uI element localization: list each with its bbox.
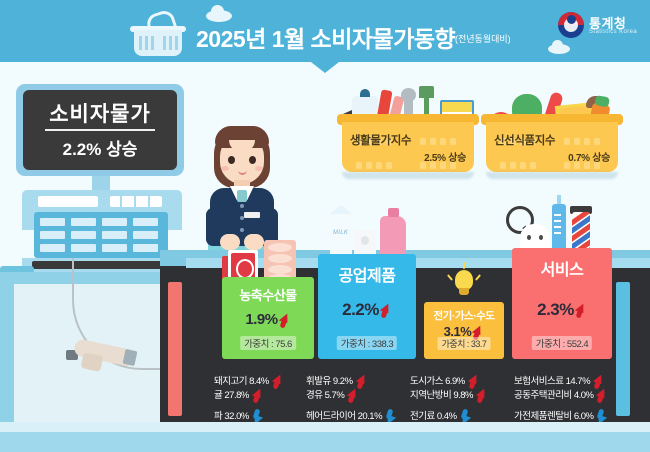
bar-agriculture-label: 농축수산물: [222, 285, 314, 304]
living-cost-index-label: 생활물가지수: [350, 132, 411, 148]
cloud-icon-2: [548, 44, 570, 54]
up-arrow-icon: [278, 313, 291, 328]
living-cost-index-basket: 생활물가지수 2.5% 상승: [342, 88, 474, 180]
list-item: 도시가스 6.9%: [410, 374, 488, 388]
bar-services-value: 2.3%: [512, 300, 612, 320]
up-arrow-icon: [379, 303, 392, 318]
bar-industrial[interactable]: 공업제품 2.2% 가중치 : 338.3: [318, 254, 416, 359]
barcode-scanner-icon: [66, 344, 138, 370]
up-arrow-icon: [574, 303, 587, 318]
receipt-slot: [38, 196, 98, 207]
list-item: 지역난방비 9.8%: [410, 388, 488, 402]
bar-services-weight: 가중치 : 552.4: [532, 336, 592, 350]
up-arrow-icon: [475, 388, 488, 403]
fresh-food-index-basket: 신선식품지수 0.7% 상승: [486, 88, 618, 180]
bar-utilities-label: 전기·가스·수도: [424, 308, 504, 323]
infographic-canvas: 2025년 1월 소비자물가동향 (전년동월대비) 통계청 Statistics…: [0, 0, 650, 452]
up-arrow-icon: [251, 388, 264, 403]
card-slot: [110, 196, 162, 207]
page-title: 2025년 1월 소비자물가동향: [196, 20, 455, 54]
bar-industrial-weight: 가중치 : 338.3: [337, 336, 397, 350]
bar-services[interactable]: 서비스 2.3% 가중치 : 552.4: [512, 248, 612, 359]
register-keypad[interactable]: [34, 212, 168, 258]
milk-carton-label: MILK: [333, 230, 348, 236]
name-badge: [244, 212, 260, 218]
list-item: 헤어드라이어 20.1%: [306, 409, 397, 423]
decor-bar-left: [168, 282, 182, 416]
bar-utilities[interactable]: 전기·가스·수도 3.1% 가중치 : 33.7: [424, 302, 504, 359]
headline-board: 소비자물가 2.2% 상승: [23, 90, 177, 170]
divider: [45, 129, 155, 131]
bar-agriculture-value: 1.9%: [222, 311, 314, 328]
shopping-basket-icon: [130, 14, 186, 56]
headline-label: 소비자물가: [23, 98, 177, 128]
decor-bar-right: [616, 282, 630, 416]
up-arrow-icon: [346, 388, 359, 403]
living-cost-index-value: 2.5% 상승: [424, 149, 466, 164]
lightbulb-icon: [452, 268, 476, 298]
bar-agriculture-weight: 가중치 : 75.6: [240, 336, 296, 350]
list-item: 공동주택관리비 4.0%: [514, 388, 608, 402]
bar-agriculture[interactable]: 농축수산물 1.9% 가중치 : 75.6: [222, 277, 314, 359]
logo-subname: Statistics Korea: [589, 29, 637, 35]
floor-strip: [0, 432, 650, 452]
list-item: 가전제품렌탈비 6.0%: [514, 409, 608, 423]
detail-list-utilities: 도시가스 6.9% 지역난방비 9.8% 전기료 0.4%: [410, 374, 488, 423]
list-item: 돼지고기 8.4%: [214, 374, 284, 388]
bar-industrial-label: 공업제품: [318, 262, 416, 286]
list-item: 전기료 0.4%: [410, 409, 488, 423]
up-arrow-icon: [271, 374, 284, 389]
list-item: 파 32.0%: [214, 409, 284, 423]
headline-value: 2.2% 상승: [23, 135, 177, 160]
up-arrow-icon: [595, 388, 608, 403]
bar-industrial-value: 2.2%: [318, 300, 416, 320]
list-item: 휘발유 9.2%: [306, 374, 397, 388]
bar-utilities-weight: 가중치 : 33.7: [438, 337, 491, 350]
bar-services-label: 서비스: [512, 256, 612, 280]
fresh-food-index-label: 신선식품지수: [494, 132, 555, 148]
up-arrow-icon: [355, 374, 368, 389]
header-notch: [311, 62, 339, 73]
page-subtitle: (전년동월대비): [455, 32, 511, 45]
list-item: 보험서비스료 14.7%: [514, 374, 608, 388]
fresh-food-index-value: 0.7% 상승: [568, 149, 610, 164]
taegeuk-icon: [558, 12, 584, 38]
page-header: 2025년 1월 소비자물가동향 (전년동월대비) 통계청 Statistics…: [0, 0, 650, 62]
statistics-korea-logo: 통계청 Statistics Korea: [558, 10, 644, 42]
list-item: 귤 27.8%: [214, 388, 284, 402]
list-item: 경유 5.7%: [306, 388, 397, 402]
